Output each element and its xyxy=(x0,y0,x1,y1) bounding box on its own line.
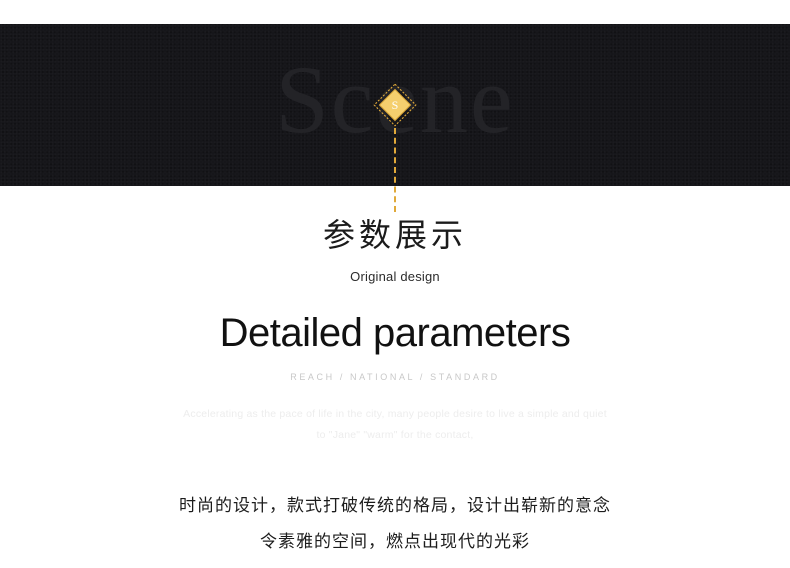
closing-line-2: 令素雅的空间，燃点出现代的光彩 xyxy=(95,525,695,561)
diamond-badge-icon: S xyxy=(372,82,418,128)
badge-letter: S xyxy=(392,98,399,112)
content-area: 参数展示 Original design Detailed parameters… xyxy=(0,186,790,568)
lede-line-2: to "Jane" "warm" for the contact, xyxy=(175,425,615,445)
closing-line-1: 时尚的设计，款式打破传统的格局，设计出崭新的意念 xyxy=(95,489,695,525)
closing-paragraph-cn: 时尚的设计，款式打破传统的格局，设计出崭新的意念 令素雅的空间，燃点出现代的光彩 xyxy=(95,445,695,560)
lede-paragraph: Accelerating as the pace of life in the … xyxy=(175,382,615,445)
standards-line: REACH / NATIONAL / STANDARD xyxy=(0,356,790,382)
section-subtitle-en: Original design xyxy=(0,254,790,284)
dashed-vertical-line-icon xyxy=(394,128,396,212)
lede-line-1: Accelerating as the pace of life in the … xyxy=(175,404,615,424)
top-gutter xyxy=(0,0,790,24)
section-title-en: Detailed parameters xyxy=(0,284,790,356)
product-detail-banner: Scene S 参数展示 Original design Detailed pa… xyxy=(0,0,790,568)
